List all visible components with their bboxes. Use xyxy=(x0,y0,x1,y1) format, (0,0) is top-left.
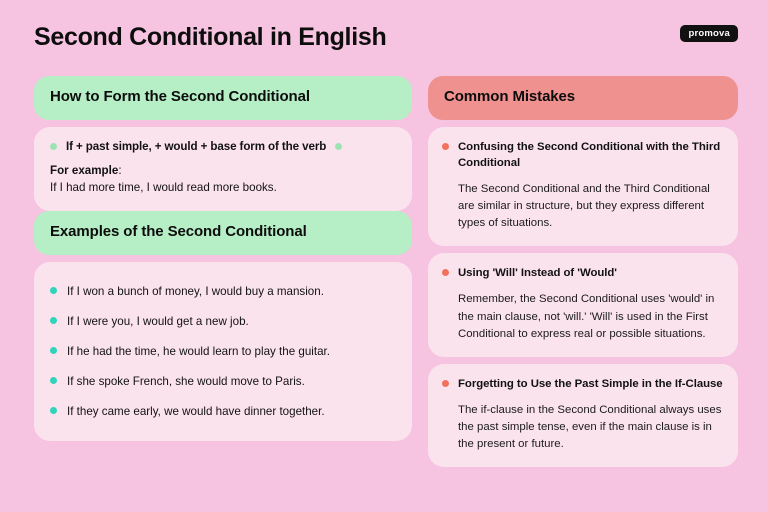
example-text: If I won a bunch of money, I would buy a… xyxy=(67,284,324,299)
for-example-label: For example xyxy=(50,164,118,177)
poster-root: Second Conditional in English promova Ho… xyxy=(0,0,768,512)
mistake-card: Using 'Will' Instead of 'Would' Remember… xyxy=(428,253,738,357)
list-item: If he had the time, he would learn to pl… xyxy=(50,337,396,367)
formula-row: If + past simple, + would + base form of… xyxy=(50,140,396,153)
for-example-label-row: For example: xyxy=(50,163,396,180)
mistake-body: The Second Conditional and the Third Con… xyxy=(442,181,723,232)
bullet-dot-icon xyxy=(50,407,57,414)
formula-text: If + past simple, + would + base form of… xyxy=(66,140,326,153)
examples-list: If I won a bunch of money, I would buy a… xyxy=(50,275,396,427)
mistake-title: Confusing the Second Conditional with th… xyxy=(458,139,723,171)
bullet-dot-icon xyxy=(50,347,57,354)
examples-heading: Examples of the Second Conditional xyxy=(34,211,412,255)
mistake-card: Forgetting to Use the Past Simple in the… xyxy=(428,364,738,468)
right-column: Common Mistakes Confusing the Second Con… xyxy=(428,76,738,467)
bullet-dot-icon xyxy=(442,143,449,150)
left-column: How to Form the Second Conditional If + … xyxy=(34,76,412,467)
mistake-title-row: Confusing the Second Conditional with th… xyxy=(442,139,723,171)
example-text: If I were you, I would get a new job. xyxy=(67,314,249,329)
promova-logo: promova xyxy=(680,25,738,42)
mistake-body: The if-clause in the Second Conditional … xyxy=(442,402,723,453)
bullet-dot-icon xyxy=(50,377,57,384)
mistake-card: Confusing the Second Conditional with th… xyxy=(428,127,738,247)
common-mistakes-heading: Common Mistakes xyxy=(428,76,738,120)
bullet-dot-icon xyxy=(335,143,342,150)
bullet-dot-icon xyxy=(442,269,449,276)
bullet-dot-icon xyxy=(50,143,57,150)
example-sentence: If I had more time, I would read more bo… xyxy=(50,180,396,197)
content-columns: How to Form the Second Conditional If + … xyxy=(34,76,738,467)
mistake-title: Forgetting to Use the Past Simple in the… xyxy=(458,376,723,392)
mistake-title-row: Using 'Will' Instead of 'Would' xyxy=(442,265,723,281)
bullet-dot-icon xyxy=(442,380,449,387)
for-example-colon: : xyxy=(118,164,121,177)
examples-card: If I won a bunch of money, I would buy a… xyxy=(34,262,412,441)
mistake-title: Using 'Will' Instead of 'Would' xyxy=(458,265,617,281)
header-bar: Second Conditional in English promova xyxy=(34,22,738,68)
formula-card: If + past simple, + would + base form of… xyxy=(34,127,412,212)
example-text: If he had the time, he would learn to pl… xyxy=(67,344,330,359)
list-item: If I were you, I would get a new job. xyxy=(50,307,396,337)
list-item: If I won a bunch of money, I would buy a… xyxy=(50,277,396,307)
page-title: Second Conditional in English xyxy=(34,22,386,52)
bullet-dot-icon xyxy=(50,287,57,294)
example-text: If she spoke French, she would move to P… xyxy=(67,374,305,389)
list-item: If they came early, we would have dinner… xyxy=(50,397,396,427)
mistake-title-row: Forgetting to Use the Past Simple in the… xyxy=(442,376,723,392)
how-to-form-heading: How to Form the Second Conditional xyxy=(34,76,412,120)
mistake-body: Remember, the Second Conditional uses 'w… xyxy=(442,291,723,342)
list-item: If she spoke French, she would move to P… xyxy=(50,367,396,397)
bullet-dot-icon xyxy=(50,317,57,324)
example-text: If they came early, we would have dinner… xyxy=(67,404,325,419)
